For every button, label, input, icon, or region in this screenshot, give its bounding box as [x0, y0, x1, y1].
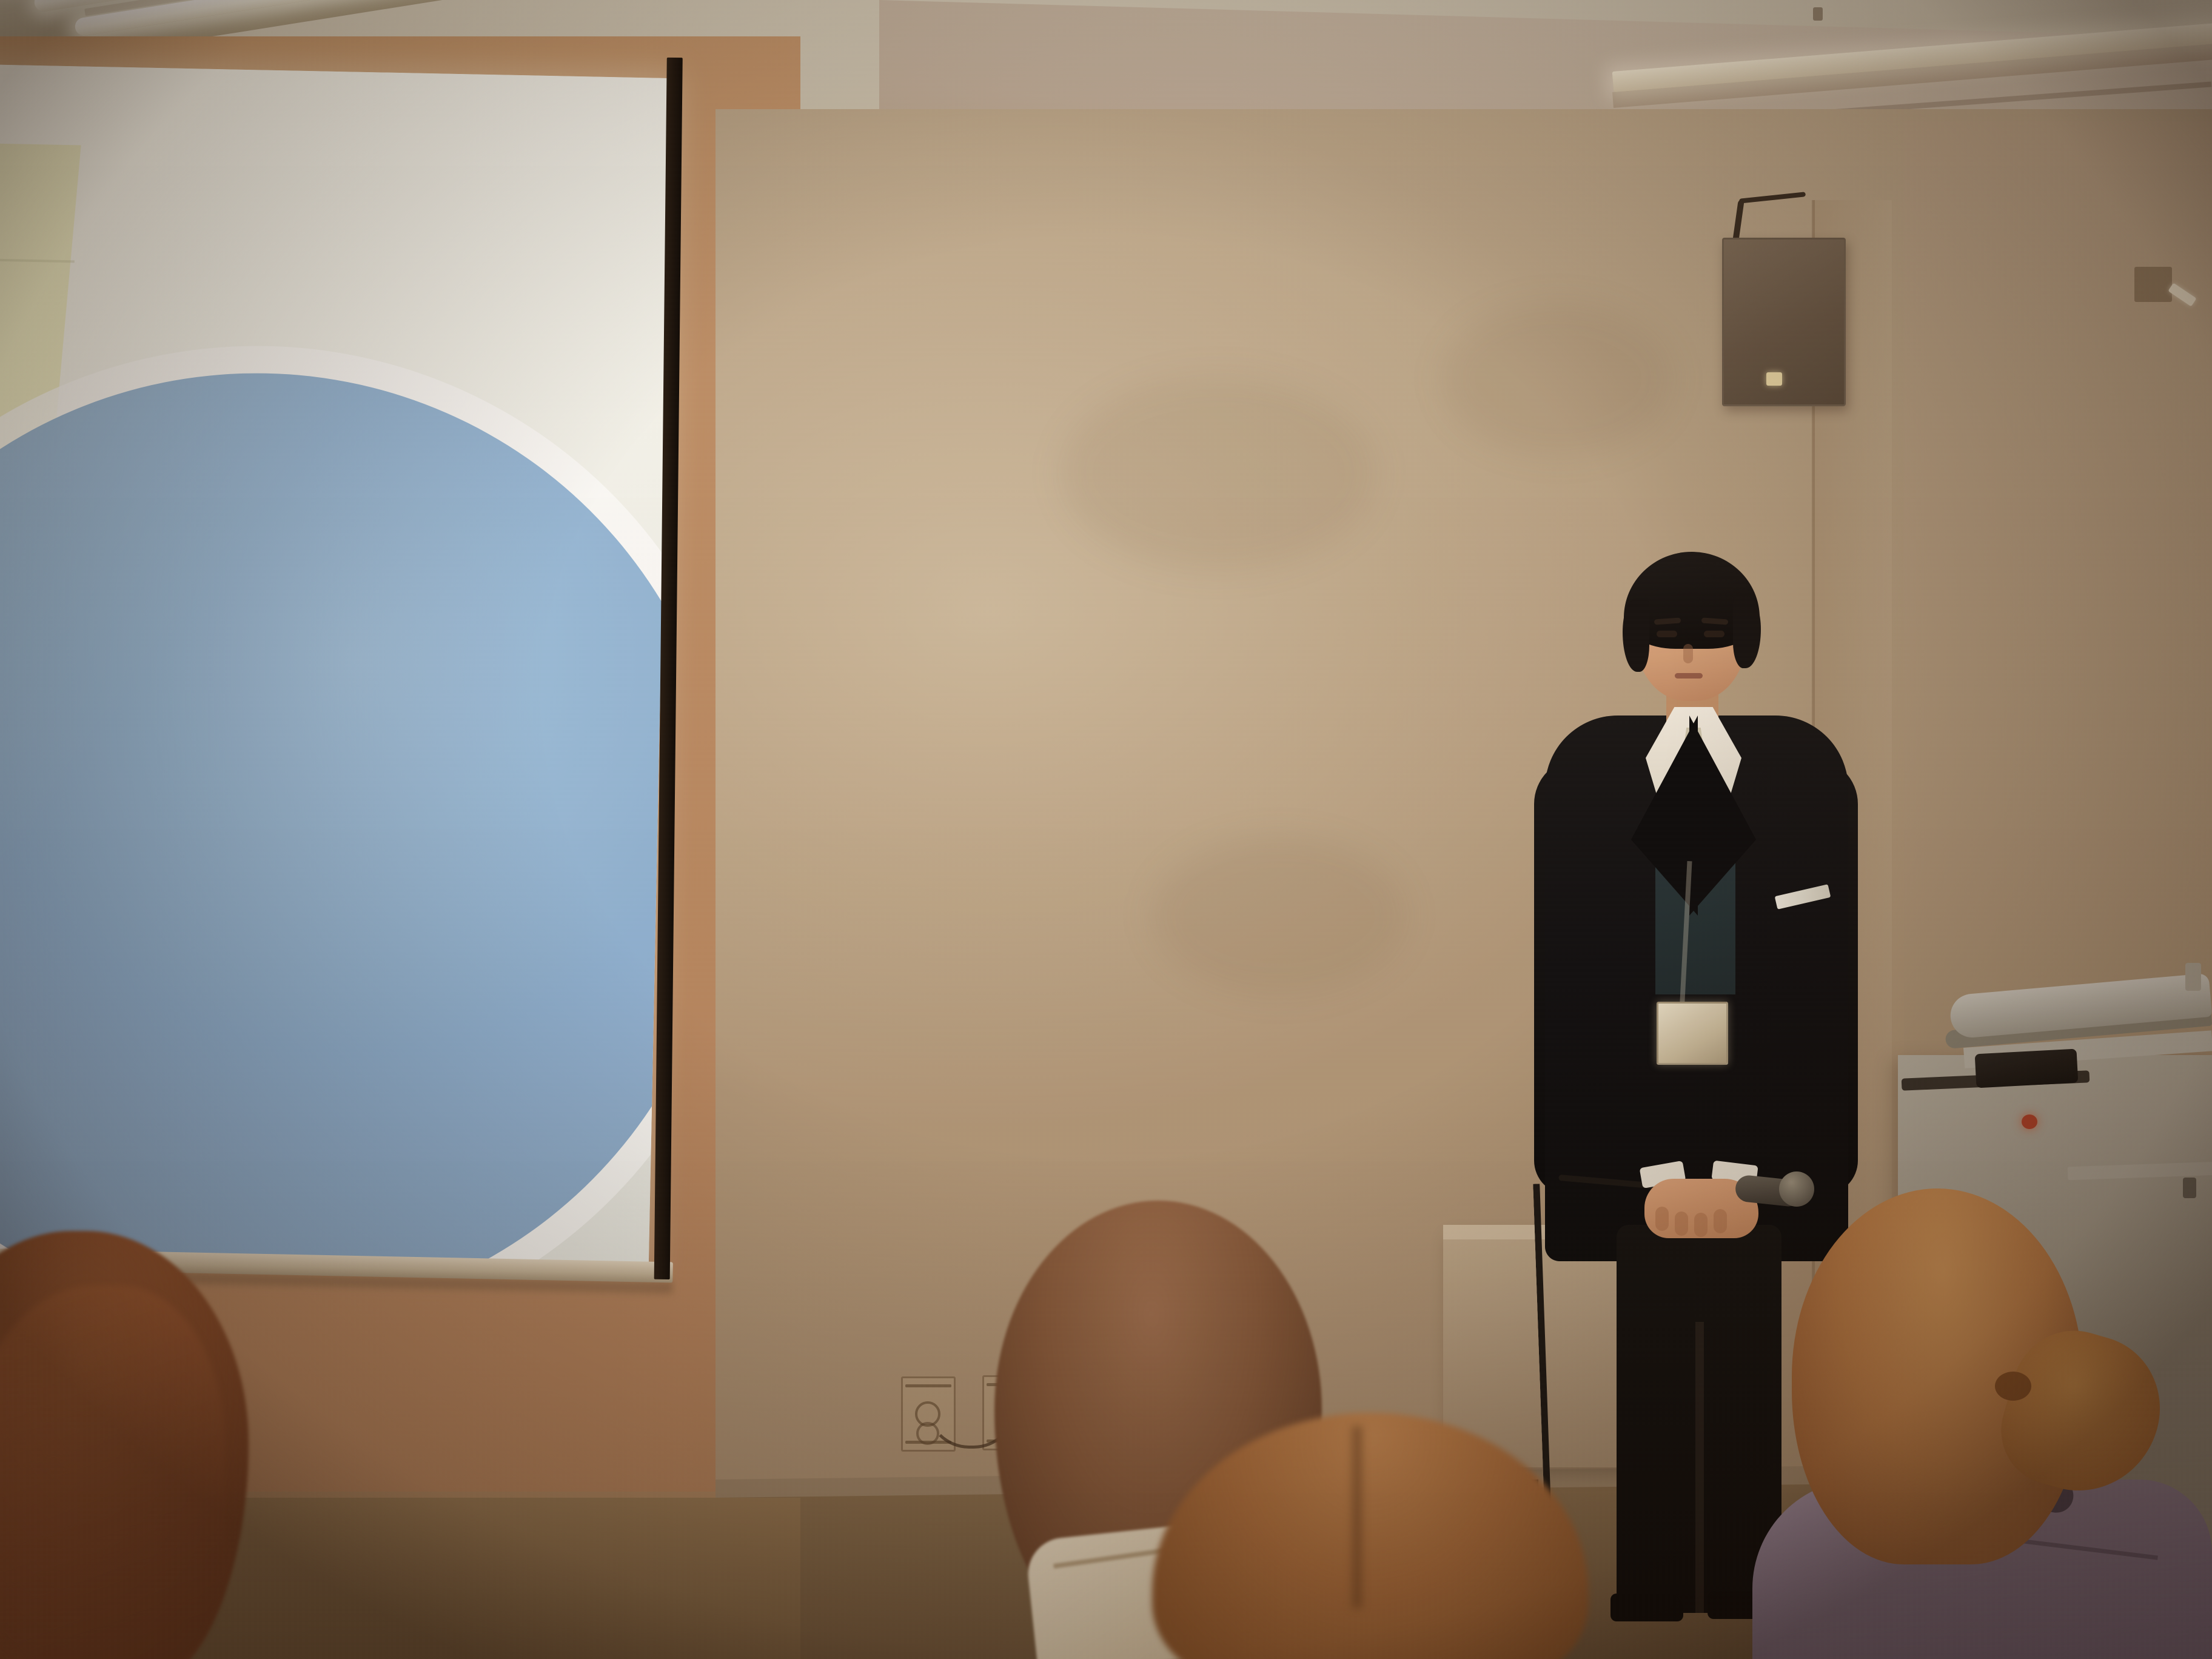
wall-smudge [1152, 837, 1407, 994]
slide-blue-circle [0, 364, 672, 1267]
ceiling-fixture-dot [1813, 7, 1823, 21]
power-indicator-icon [2022, 1114, 2037, 1129]
audience-hair-strand [0, 1285, 224, 1659]
projection-surface [0, 64, 672, 1267]
av-control-unit[interactable] [1975, 1049, 2079, 1088]
dress-shoe [1610, 1594, 1683, 1621]
pull-down-projection-screen [0, 44, 740, 1284]
conference-name-badge [1657, 1002, 1728, 1065]
wall-bracket [2134, 267, 2172, 302]
speaker-indicator-icon [1766, 372, 1782, 386]
presenter-finger [1675, 1212, 1688, 1236]
presenter-mouth [1675, 673, 1703, 679]
trouser-leg-split [1695, 1322, 1704, 1613]
presenter-hair-side [1733, 597, 1761, 668]
wall-mounted-speaker [1722, 238, 1846, 406]
presenter-finger [1694, 1213, 1708, 1237]
podium-peg [2185, 963, 2201, 991]
presenter-finger [1655, 1207, 1669, 1231]
presenter-eye [1704, 631, 1724, 637]
plate-bar [905, 1384, 951, 1387]
audience-hair-part [1352, 1426, 1362, 1608]
presentation-room-photo [0, 0, 2212, 1659]
audience-hair-band [1995, 1372, 2031, 1401]
wall-smudge [1061, 376, 1376, 570]
presenter-finger [1714, 1209, 1727, 1233]
podium-rail-end [2183, 1178, 2196, 1198]
presenter-hair-side [1623, 599, 1649, 672]
wall-smudge [1443, 303, 1674, 455]
microphone-head-icon [1779, 1171, 1814, 1207]
presenter-nose [1683, 644, 1693, 663]
presenter-eye [1657, 631, 1677, 637]
